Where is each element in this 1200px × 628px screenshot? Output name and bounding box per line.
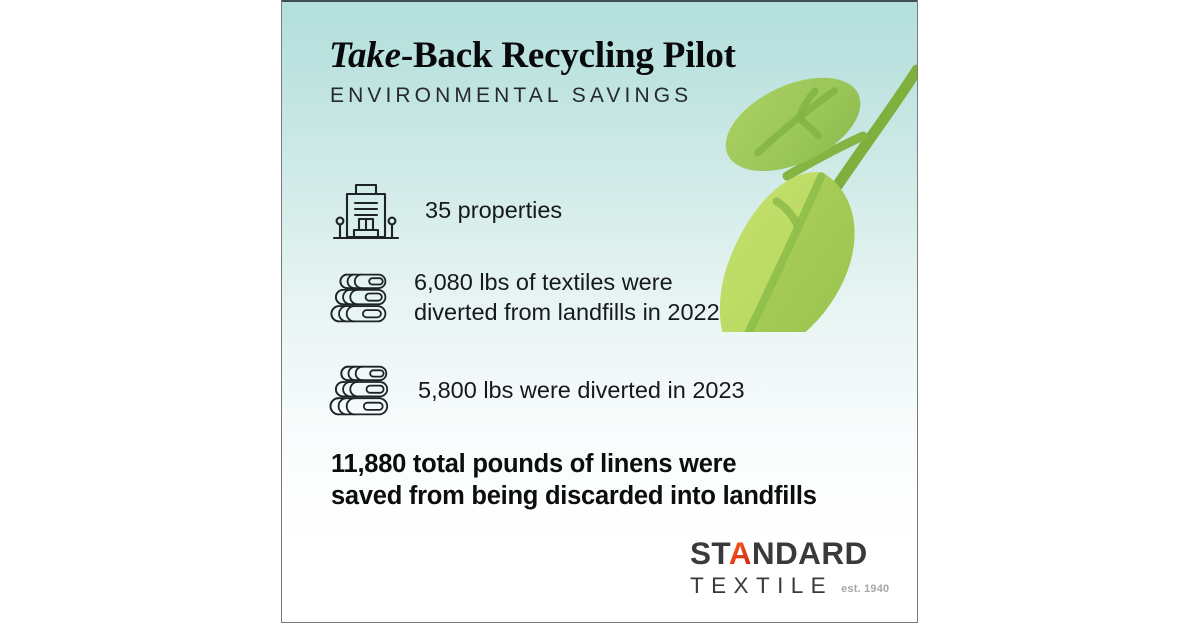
- page-title: Take-Back Recycling Pilot: [329, 36, 849, 75]
- logo-sub-line: TEXTILE est. 1940: [690, 575, 885, 598]
- logo-word-before-accent: ST: [690, 535, 729, 571]
- stat-row-diverted-2023: 5,800 lbs were diverted in 2023: [326, 355, 745, 427]
- card-top-rule: [282, 0, 917, 2]
- stat-row-diverted-2022: 6,080 lbs of textiles were diverted from…: [326, 262, 720, 334]
- standard-textile-logo: STANDARD TEXTILE est. 1940: [690, 538, 885, 596]
- logo-sub-wordmark: TEXTILE: [690, 575, 833, 598]
- building-icon: [330, 175, 402, 247]
- page-title-italic-word: Take: [329, 35, 401, 76]
- logo-accent-letter: A: [729, 535, 752, 571]
- logo-word-after-accent: NDARD: [752, 535, 868, 571]
- logo-established-text: est. 1940: [841, 584, 889, 597]
- infographic-card: Take-Back Recycling Pilot ENVIRONMENTAL …: [281, 0, 918, 623]
- towel-stack-icon: [326, 355, 398, 427]
- stat-text-diverted-2022: 6,080 lbs of textiles were diverted from…: [414, 268, 720, 327]
- towel-stack-icon: [326, 262, 398, 334]
- infographic-canvas: Take-Back Recycling Pilot ENVIRONMENTAL …: [0, 0, 1200, 628]
- stat-text-diverted-2023: 5,800 lbs were diverted in 2023: [418, 376, 745, 406]
- page-subtitle: ENVIRONMENTAL SAVINGS: [330, 84, 849, 108]
- stat-row-properties: 35 properties: [330, 175, 562, 247]
- page-title-rest: -Back Recycling Pilot: [401, 35, 736, 76]
- stat-text-properties: 35 properties: [425, 196, 562, 226]
- logo-wordmark: STANDARD: [690, 538, 885, 570]
- headline-block: Take-Back Recycling Pilot ENVIRONMENTAL …: [329, 36, 849, 108]
- summary-statement: 11,880 total pounds of linens were saved…: [331, 448, 891, 513]
